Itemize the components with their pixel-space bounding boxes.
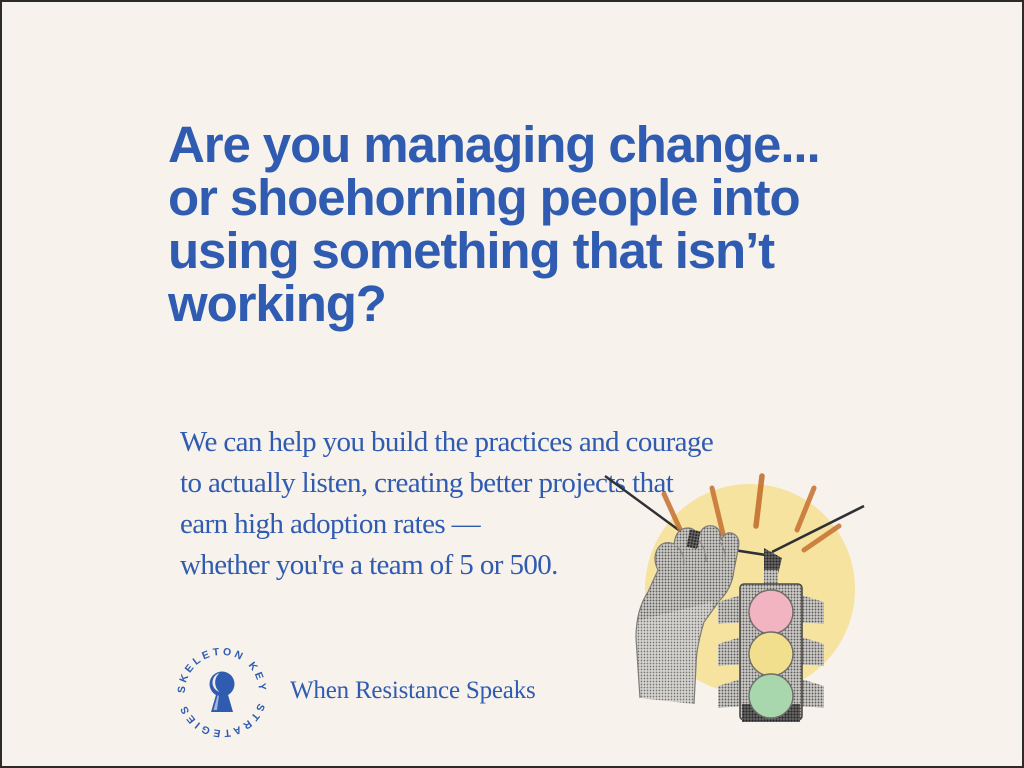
keyhole-icon [210, 672, 235, 713]
footer: SKELETON KEY STRATEGIES When Resistance … [172, 642, 536, 742]
slide-canvas: Are you managing change... or shoehornin… [0, 0, 1024, 768]
skeleton-key-strategies-logo[interactable]: SKELETON KEY STRATEGIES [172, 642, 272, 742]
hanging-traffic-light [718, 584, 824, 722]
green-lamp [749, 674, 793, 718]
red-lamp [749, 590, 793, 634]
traffic-light-collage [592, 452, 892, 722]
amber-lamp [749, 632, 793, 676]
page-title: Are you managing change... or shoehornin… [168, 118, 868, 330]
tagline: When Resistance Speaks [290, 677, 536, 707]
